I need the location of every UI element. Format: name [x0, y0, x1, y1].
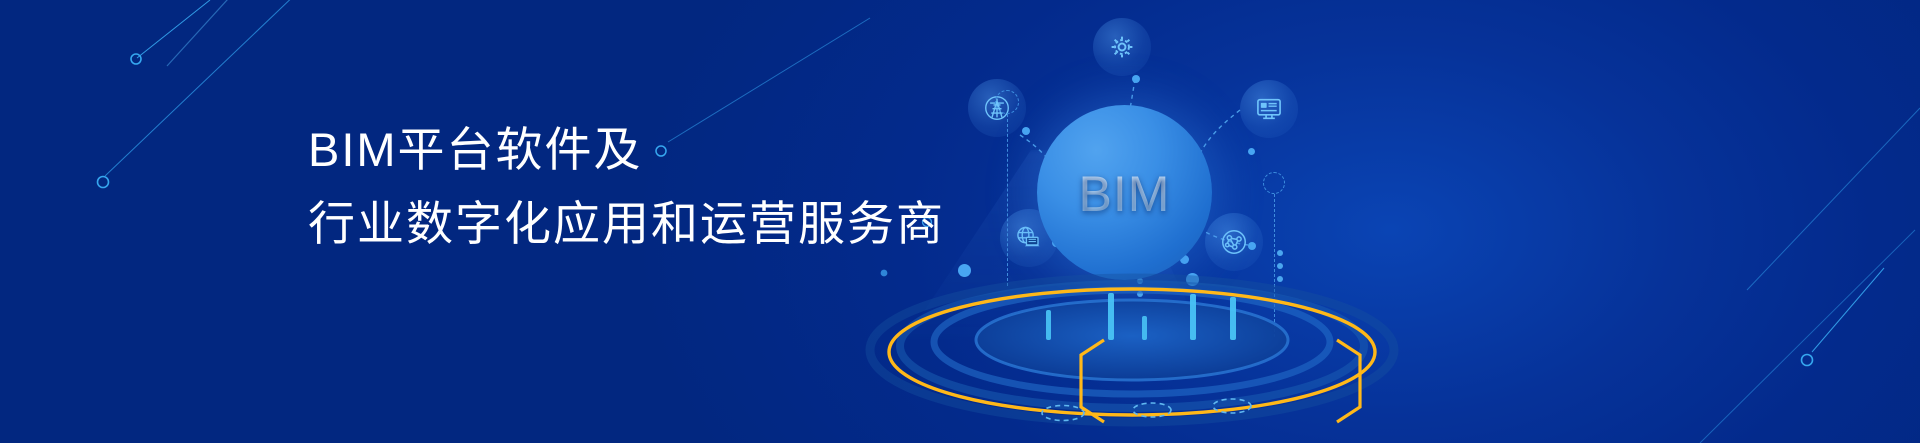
- bracket-right: [1334, 338, 1364, 424]
- gear-bubble[interactable]: [1093, 18, 1151, 76]
- bim-illustration: BIM: [0, 0, 1060, 443]
- hero-banner: BIM平台软件及 行业数字化应用和运营服务商: [0, 0, 1920, 443]
- stem-top-ring: [995, 90, 1019, 114]
- bracket-left: [1077, 338, 1107, 424]
- monitor-bubble[interactable]: [1240, 80, 1298, 138]
- connector-dot: [1248, 148, 1255, 155]
- monitor-icon: [1255, 95, 1283, 123]
- stem-top-ring: [1263, 172, 1285, 194]
- connector-dot: [1132, 75, 1140, 83]
- gear-icon: [1109, 34, 1135, 60]
- base-platform: [860, 230, 1400, 443]
- connector-dot: [1022, 127, 1030, 135]
